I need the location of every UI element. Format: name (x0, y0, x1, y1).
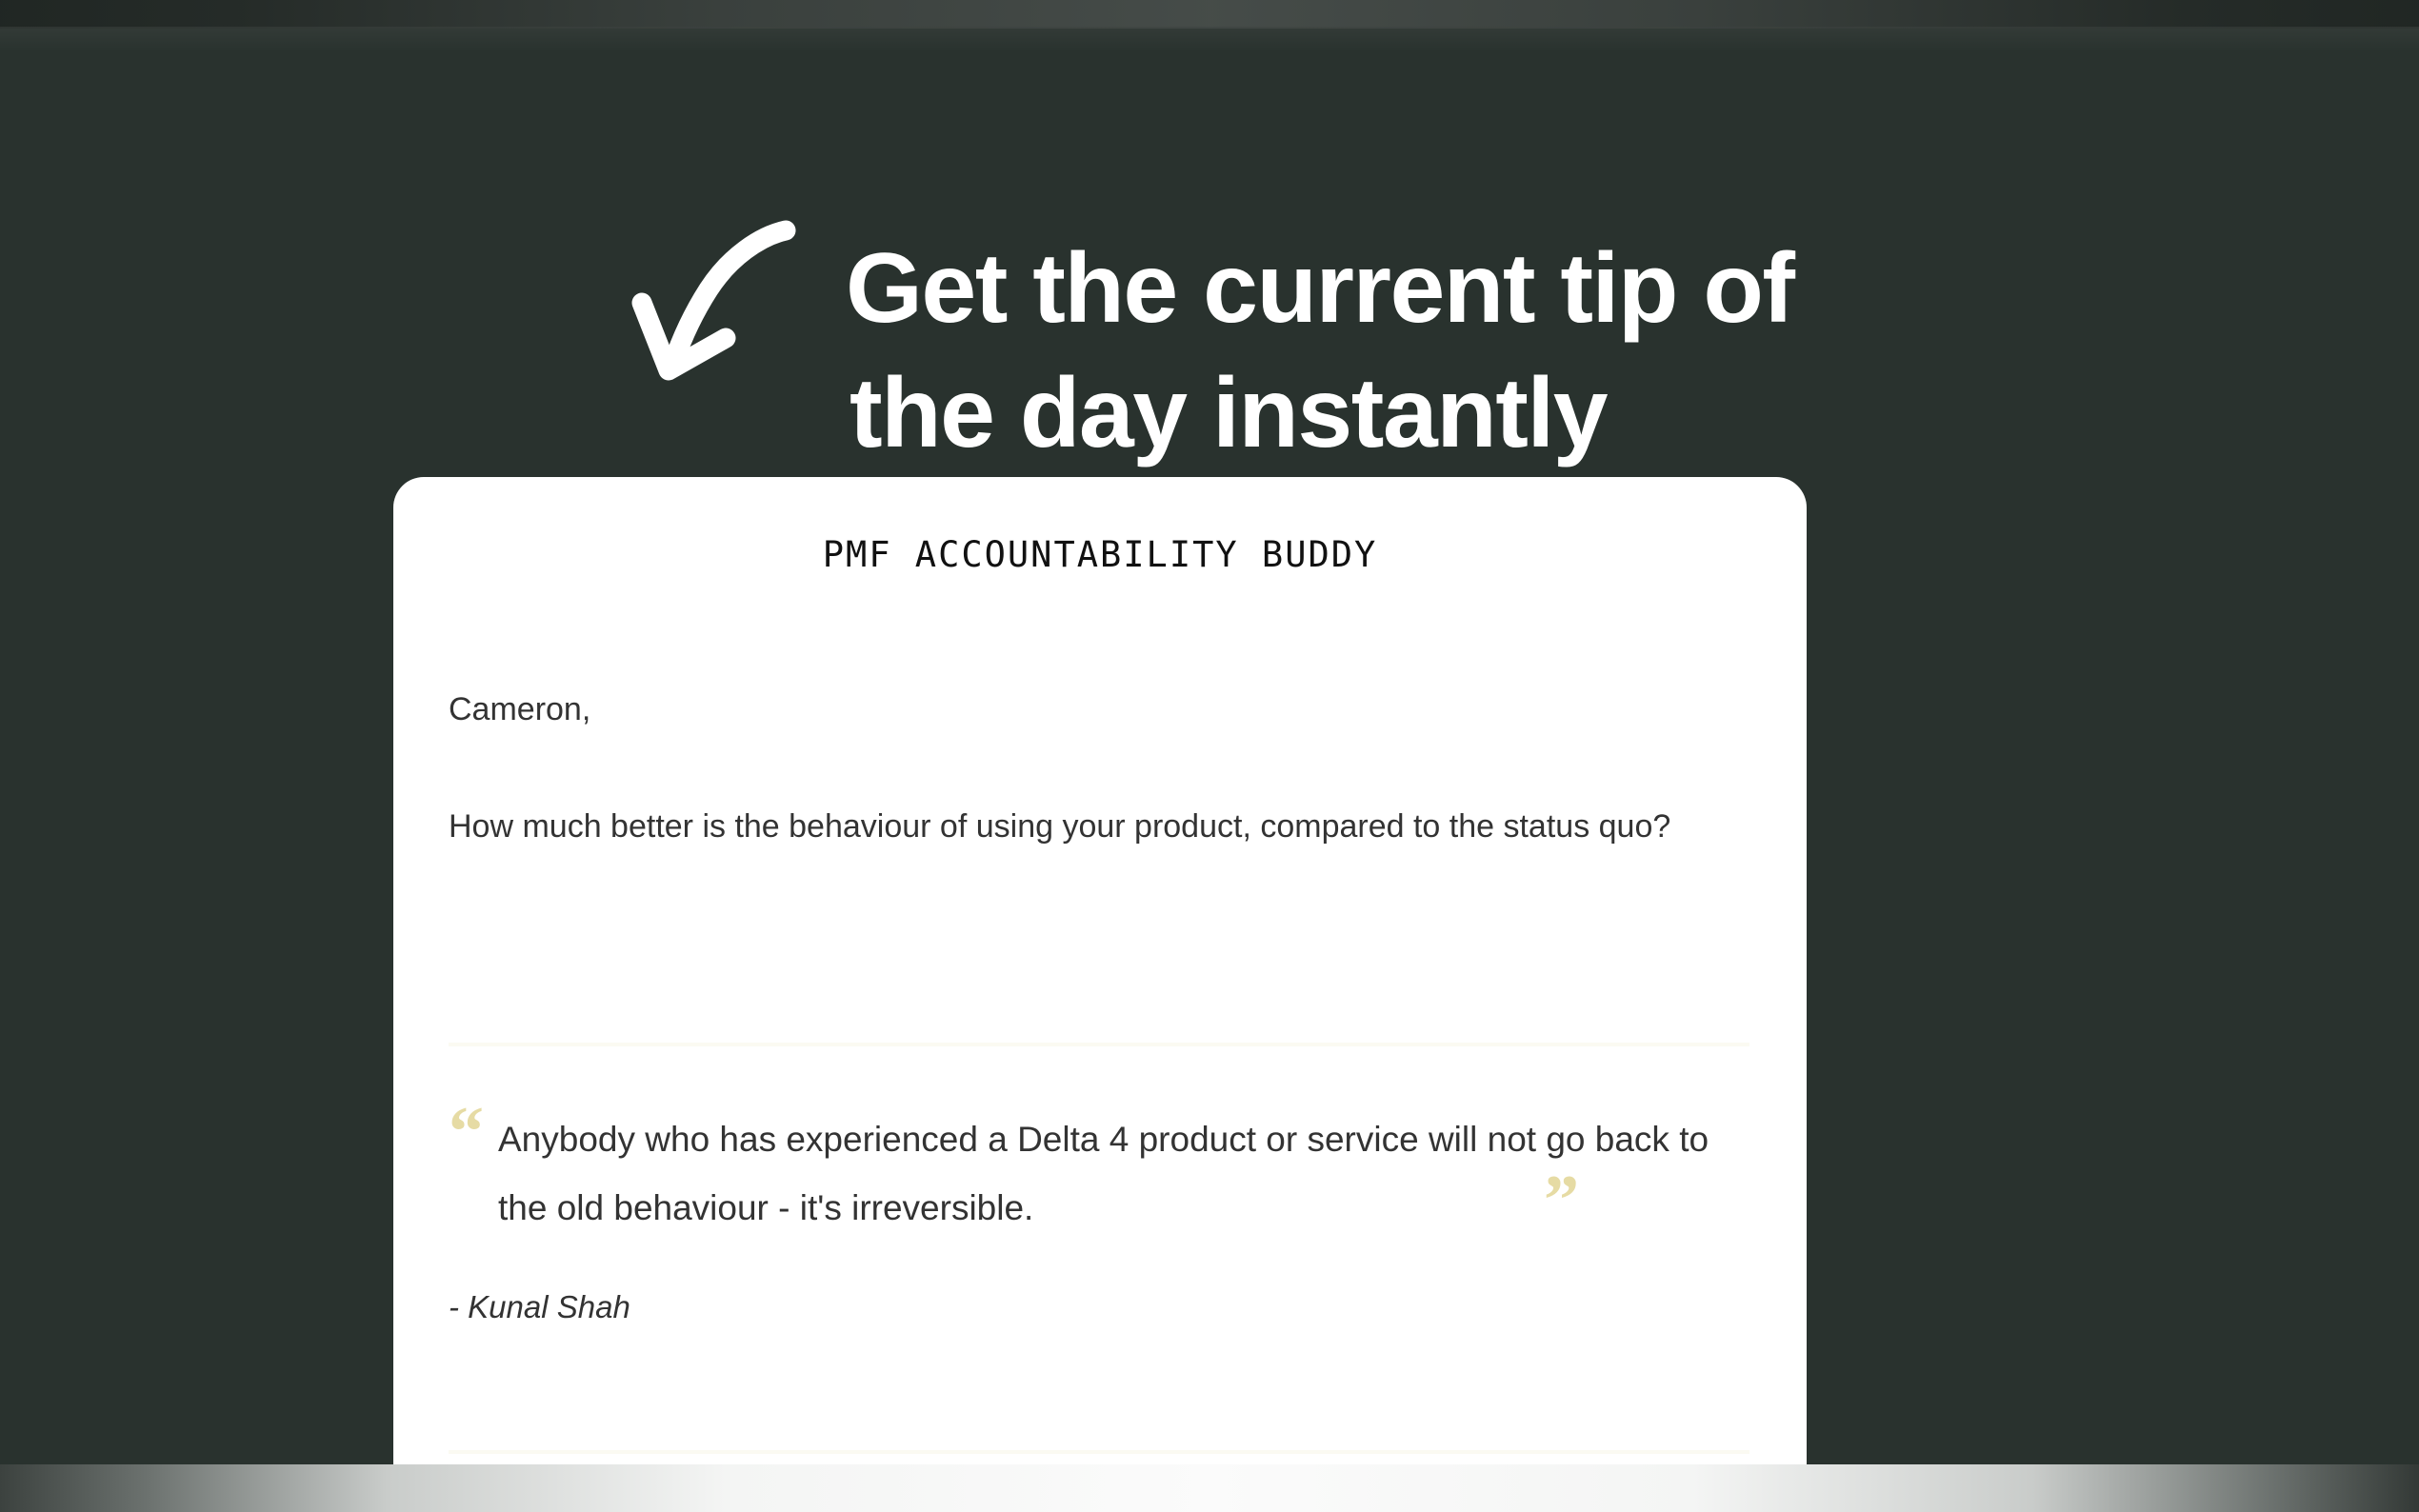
divider-above-quote (449, 1043, 1749, 1046)
headline-line-2: the day instantly (850, 351, 1989, 476)
quote-text: “ Anybody who has experienced a Delta 4 … (449, 1105, 1725, 1243)
headline-line-1: Get the current tip of (846, 227, 1989, 351)
bottom-ambient-gradient-band (0, 1464, 2419, 1512)
email-question: How much better is the behaviour of usin… (449, 794, 1751, 860)
top-ambient-gradient-fade (0, 27, 2419, 51)
card-title: PMF ACCOUNTABILITY BUDDY (393, 534, 1807, 575)
quote-line-1: Anybody who has experienced a Delta 4 pr… (498, 1120, 1419, 1159)
quote-block: “ Anybody who has experienced a Delta 4 … (449, 1105, 1763, 1328)
page-headline: Get the current tip of the day instantly (846, 227, 1989, 476)
curved-arrow-down-left-icon (627, 202, 802, 396)
quote-lines: Anybody who has experienced a Delta 4 pr… (449, 1105, 1725, 1243)
top-ambient-gradient-band (0, 0, 2419, 29)
email-greeting: Cameron, (449, 677, 1751, 743)
screenshot-root: Get the current tip of the day instantly… (0, 0, 2419, 1512)
quote-attribution: - Kunal Shah (449, 1286, 1763, 1328)
email-preview-card: PMF ACCOUNTABILITY BUDDY Cameron, How mu… (393, 477, 1807, 1465)
divider-below-quote (449, 1450, 1749, 1454)
card-body: Cameron, How much better is the behaviou… (449, 677, 1751, 860)
